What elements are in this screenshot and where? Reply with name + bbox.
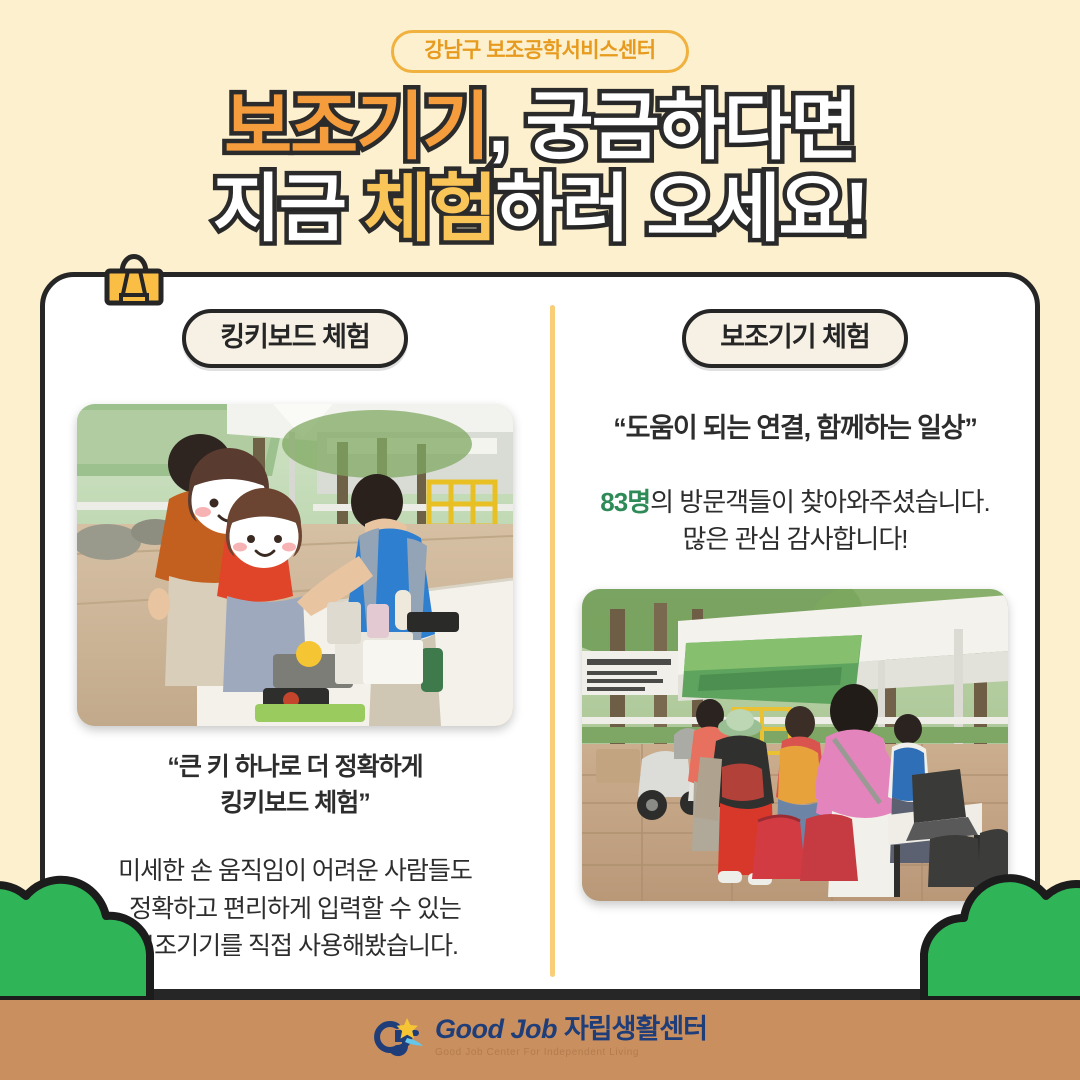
title-line-2-lead: 지금 xyxy=(213,167,364,250)
logo-main-kr: 자립생활센터 xyxy=(564,1014,707,1044)
title-highlight-chehum: 체험 xyxy=(363,167,495,250)
right-body-line-1: 83명의 방문객들이 찾아와주셨습니다. xyxy=(545,484,1040,522)
column-divider xyxy=(550,305,555,977)
binder-clip-icon xyxy=(97,243,171,309)
gj-star-logo-icon xyxy=(373,1016,425,1058)
visitor-count-rest: 의 방문객들이 찾아와주셨습니다. xyxy=(650,487,990,517)
visitor-count: 83명 xyxy=(600,487,650,517)
title-line-2: 지금 체험하러 오세요! xyxy=(0,170,1080,248)
header-badge-wrapper: 강남구 보조공학서비스센터 xyxy=(0,30,1080,73)
center-name-badge: 강남구 보조공학서비스센터 xyxy=(391,30,688,73)
poster-canvas: 강남구 보조공학서비스센터 보조기기, 궁금하다면 지금 체험하러 오세요! 킹… xyxy=(0,0,1080,1080)
right-pill-row: 보조기기 체험 xyxy=(545,309,1040,368)
left-quote: “큰 키 하나로 더 정확하게 킹키보드 체험” xyxy=(45,750,545,821)
left-quote-line-1: “큰 키 하나로 더 정확하게 xyxy=(45,750,545,786)
bush-right-icon xyxy=(890,850,1080,1000)
logo-main-line: Good Job 자립생활센터 xyxy=(435,1016,707,1043)
title-line-1: 보조기기, 궁금하다면 xyxy=(0,88,1080,166)
right-body-line-2: 많은 관심 감사합니다! xyxy=(545,521,1040,559)
logo-main-en: Good Job xyxy=(435,1014,564,1044)
right-section-pill: 보조기기 체험 xyxy=(682,309,908,368)
left-quote-line-2: 킹키보드 체험” xyxy=(45,786,545,822)
right-body: 83명의 방문객들이 찾아와주셨습니다. 많은 관심 감사합니다! xyxy=(545,484,1040,559)
page-title: 보조기기, 궁금하다면 지금 체험하러 오세요! xyxy=(0,88,1080,249)
title-highlight-bojogigi: 보조기기 xyxy=(224,85,488,168)
title-line-2-tail: 하러 오세요! xyxy=(496,167,868,250)
bush-left-icon xyxy=(0,850,176,1000)
left-pill-row: 킹키보드 체험 xyxy=(45,309,545,368)
footer-logo-text: Good Job 자립생활센터 Good Job Center For Inde… xyxy=(435,1016,707,1058)
right-quote: “도움이 되는 연결, 함께하는 일상” xyxy=(545,410,1040,448)
logo-subtitle: Good Job Center For Independent Living xyxy=(435,1048,639,1058)
left-section-pill: 킹키보드 체험 xyxy=(182,309,408,368)
footer-bar: Good Job 자립생활센터 Good Job Center For Inde… xyxy=(0,994,1080,1080)
title-line-1-rest: , 궁금하다면 xyxy=(488,85,856,168)
left-photo xyxy=(77,404,513,726)
